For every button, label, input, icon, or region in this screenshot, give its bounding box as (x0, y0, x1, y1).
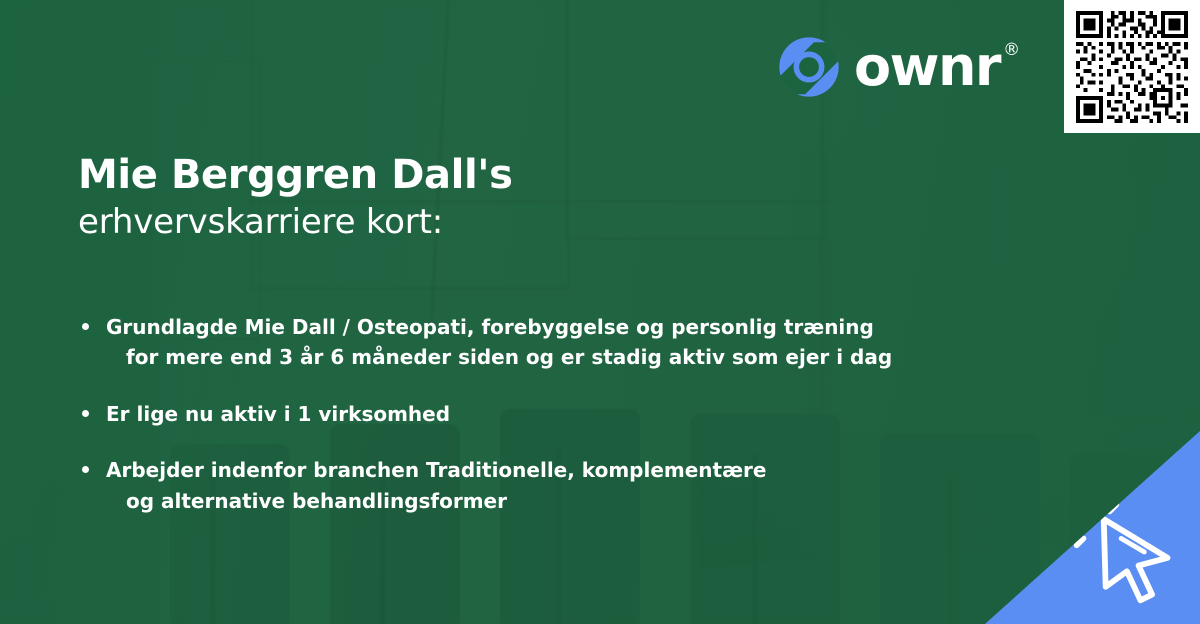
bullet-dot-icon (82, 323, 89, 330)
career-facts-list: Grundlagde Mie Dall / Osteopati, forebyg… (78, 312, 978, 516)
list-item: Grundlagde Mie Dall / Osteopati, forebyg… (78, 312, 978, 373)
bullet-text: for mere end 3 år 6 måneder siden og er … (106, 342, 978, 372)
list-item: Arbejder indenfor branchen Traditionelle… (78, 455, 978, 516)
registered-trademark-icon: ® (1003, 42, 1020, 59)
bullet-text: Arbejder indenfor branchen Traditionelle… (106, 455, 978, 485)
bullet-text: Grundlagde Mie Dall / Osteopati, forebyg… (106, 312, 978, 342)
qr-code[interactable] (1076, 11, 1188, 123)
title-line-1: Mie Berggren Dall's (78, 152, 838, 199)
bullet-text: og alternative behandlingsformer (106, 486, 978, 516)
career-card: ownr ® (0, 0, 1200, 624)
bullet-text: Er lige nu aktiv i 1 virksomhed (106, 399, 978, 429)
page-title: Mie Berggren Dall's erhvervskarriere kor… (78, 152, 838, 245)
ownr-circle-swirl-icon (778, 36, 840, 98)
bullet-dot-icon (82, 466, 89, 473)
qr-code-panel[interactable] (1064, 0, 1200, 133)
ownr-wordmark-text: ownr (854, 35, 1000, 98)
title-line-2: erhvervskarriere kort: (78, 201, 838, 245)
list-item: Er lige nu aktiv i 1 virksomhed (78, 399, 978, 429)
ownr-wordmark: ownr ® (854, 40, 1000, 94)
ownr-logo: ownr ® (778, 36, 1000, 98)
bullet-dot-icon (82, 410, 89, 417)
